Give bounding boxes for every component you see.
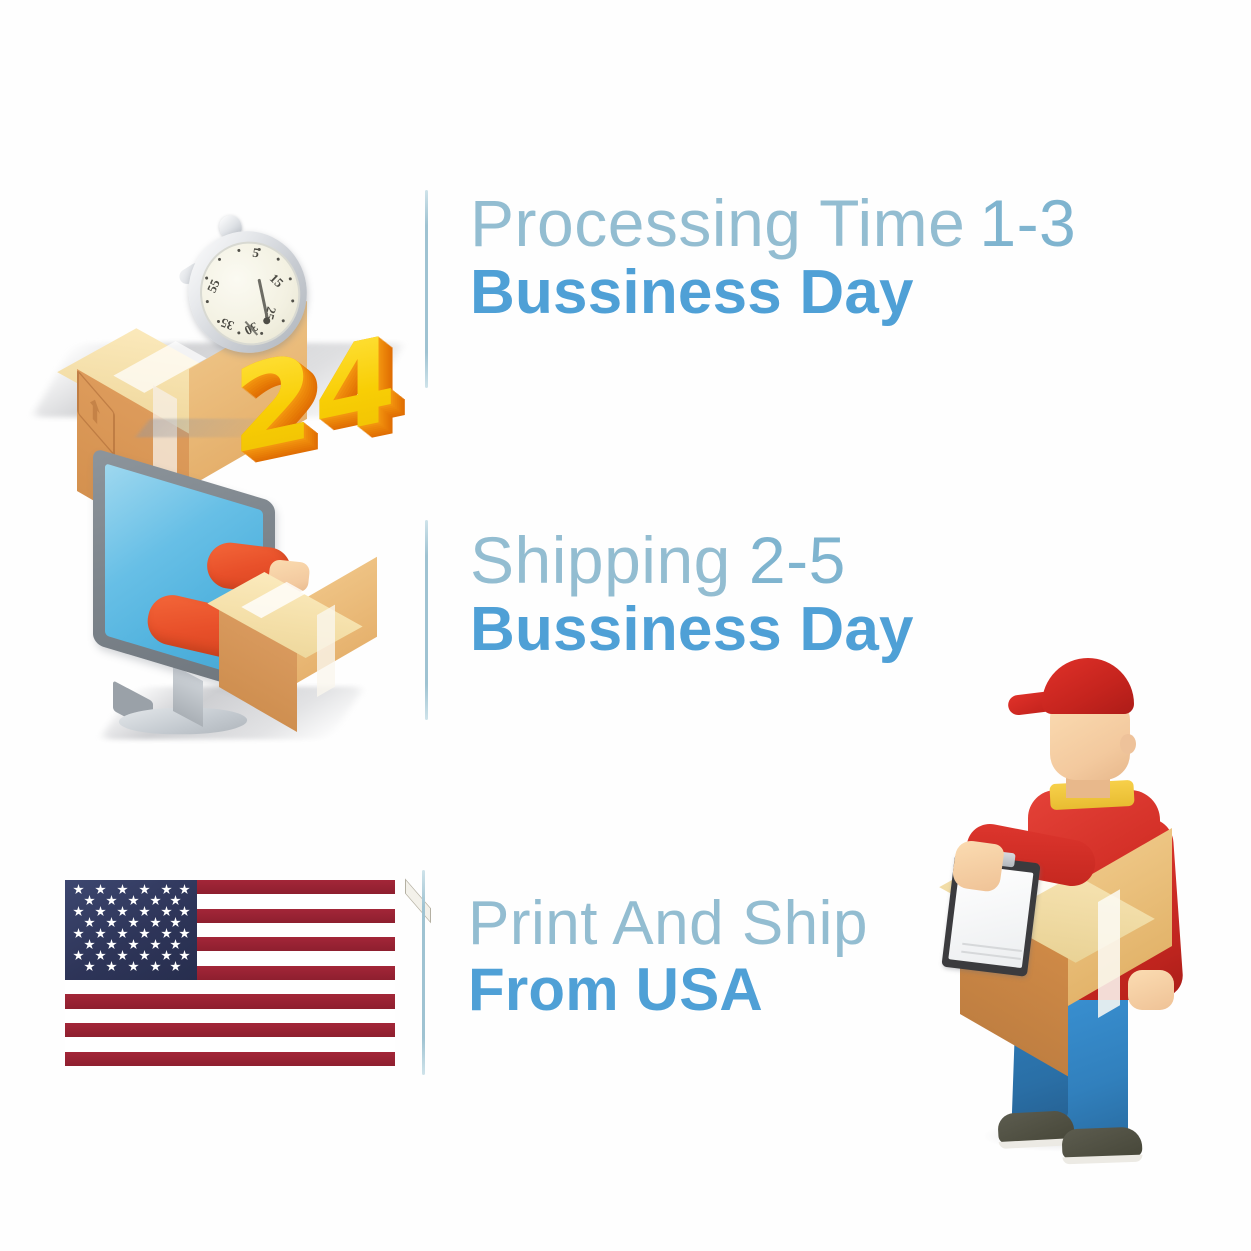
infographic-canvas: 24 24 5 15 25 30 35 55 bbox=[0, 0, 1251, 1251]
origin-headline: Print And Ship bbox=[468, 892, 868, 955]
origin-text: Print And Ship From USA bbox=[468, 892, 868, 1020]
flag-stripe bbox=[65, 1052, 395, 1066]
headline-value: 1-3 bbox=[979, 186, 1076, 260]
shoe-sole bbox=[1062, 1155, 1142, 1165]
processing-time-subline: Bussiness Day bbox=[470, 261, 1076, 324]
processing-time-text: Processing Time1-3 Bussiness Day bbox=[470, 190, 1076, 325]
courier-shoe-right bbox=[1062, 1127, 1143, 1160]
headline-label: Shipping bbox=[470, 523, 731, 597]
delivered-parcel-strap-right bbox=[317, 605, 335, 697]
shipping-time-headline: Shipping2-5 bbox=[470, 527, 914, 594]
monitor-delivery-icon bbox=[55, 465, 435, 765]
dial-number: 55 bbox=[204, 277, 224, 295]
courier-hand-right bbox=[1128, 970, 1174, 1010]
shipping-time-text: Shipping2-5 Bussiness Day bbox=[470, 527, 914, 662]
dial-number: 15 bbox=[266, 271, 286, 292]
flag-stripe bbox=[197, 966, 395, 980]
flag-stripe bbox=[65, 1023, 395, 1037]
flag-stripe bbox=[197, 880, 395, 894]
flag-canton bbox=[65, 880, 197, 980]
section-divider bbox=[425, 520, 428, 720]
courier-parcel-strap-right bbox=[1098, 889, 1120, 1018]
stopwatch-on-parcel-icon: 24 24 5 15 25 30 35 55 bbox=[35, 95, 415, 425]
section-processing-time: 24 24 5 15 25 30 35 55 bbox=[0, 95, 1251, 425]
dial-number: 35 bbox=[218, 314, 236, 333]
headline-value: 2-5 bbox=[749, 523, 846, 597]
courier-cap-crown bbox=[1042, 658, 1134, 714]
flag-stripe bbox=[65, 994, 395, 1008]
section-divider bbox=[422, 870, 425, 1075]
shipping-time-subline: Bussiness Day bbox=[470, 598, 914, 661]
delivery-man-illustration bbox=[930, 650, 1230, 1170]
section-divider bbox=[425, 190, 428, 388]
courier-hand-left bbox=[951, 839, 1005, 893]
processing-time-headline: Processing Time1-3 bbox=[470, 190, 1076, 257]
flag-stripe bbox=[197, 909, 395, 923]
headline-label: Processing Time bbox=[470, 186, 965, 260]
usa-flag-icon bbox=[65, 880, 395, 1066]
flag-stripe bbox=[197, 937, 395, 951]
courier-ear bbox=[1120, 734, 1136, 754]
origin-subline: From USA bbox=[468, 959, 868, 1020]
stopwatch-pivot bbox=[263, 317, 271, 325]
